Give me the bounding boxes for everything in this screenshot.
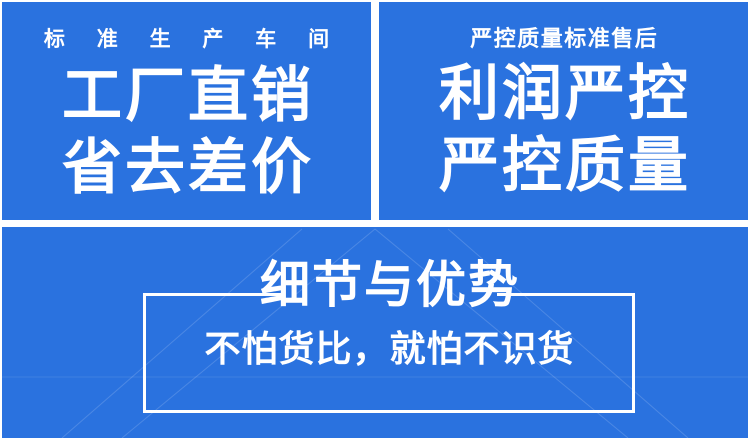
headline-quality-control-line2: 严控质量 [436, 136, 691, 196]
panel-quality-control-content: 严控质量标准售后 利润严控 严控质量 [379, 2, 748, 220]
headline-factory-direct-line1: 工厂直销 [59, 66, 314, 126]
frame-bottom-edge [143, 410, 635, 413]
bottom-subtitle-compare-goods: 不怕货比，就怕不识货 [143, 331, 635, 367]
panel-details-advantages: 细节与优势 不怕货比，就怕不识货 [2, 227, 748, 438]
headline-factory-direct-line2: 省去差价 [59, 138, 314, 198]
headline-quality-control-line1: 利润严控 [436, 64, 691, 124]
details-frame: 细节与优势 不怕货比，就怕不识货 [143, 293, 635, 413]
kicker-quality-aftersales: 严控质量标准售后 [469, 28, 659, 50]
kicker-standard-workshop: 标 准 生 产 车 间 [31, 29, 342, 50]
panel-quality-control: 严控质量标准售后 利润严控 严控质量 [379, 2, 748, 220]
panel-factory-direct: 标 准 生 产 车 间 工厂直销 省去差价 [2, 2, 371, 220]
promo-banner: 标 准 生 产 车 间 工厂直销 省去差价 严控质量标准售后 利润严控 严控质量 [0, 0, 750, 440]
panel-factory-direct-content: 标 准 生 产 车 间 工厂直销 省去差价 [2, 2, 371, 220]
bottom-title-details-advantages: 细节与优势 [143, 260, 635, 310]
